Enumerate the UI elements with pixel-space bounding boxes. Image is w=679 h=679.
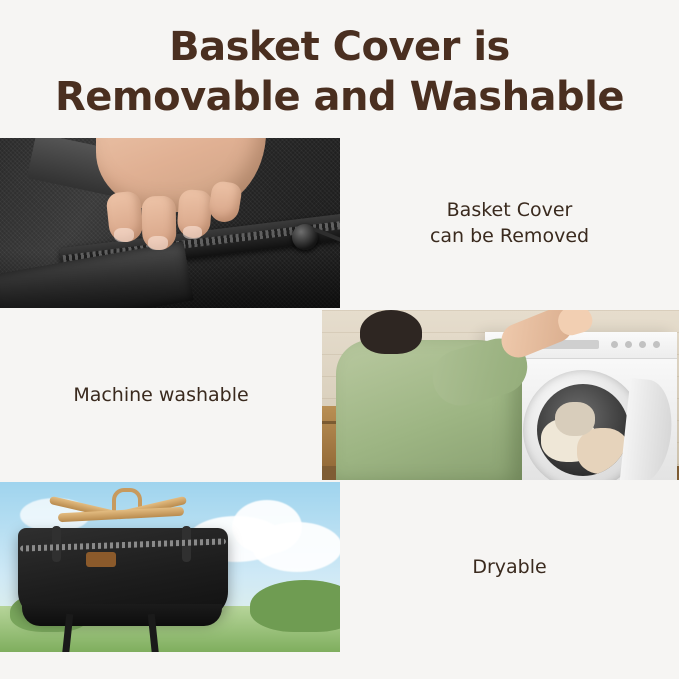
photo-basket-hanging-outdoors (0, 482, 340, 652)
caption-dryable: Dryable (340, 482, 679, 652)
feature-row-machine-washable: Machine washable (0, 310, 679, 480)
fabric-background (0, 138, 340, 308)
caption-line-1: Machine washable (73, 384, 248, 406)
brand-label (86, 552, 116, 567)
caption-machine-washable: Machine washable (0, 310, 322, 480)
washer-button-icon (625, 341, 632, 348)
caption-line-1: Dryable (472, 556, 546, 578)
sky-background (0, 482, 340, 652)
caption-line-2: can be Removed (430, 225, 589, 247)
fingernail (183, 226, 202, 239)
laundry-item (555, 402, 595, 436)
fingernail (148, 236, 168, 250)
washer-button-icon (653, 341, 660, 348)
photo-hand-pulling-basket-cover-zipper (0, 138, 340, 308)
headline-line-2: Removable and Washable (0, 72, 679, 122)
fingernail (114, 228, 134, 242)
washer-drum (537, 384, 629, 476)
bush (250, 580, 340, 632)
caption-basket-cover-removed: Basket Cover can be Removed (340, 138, 679, 308)
person-head (360, 310, 422, 354)
feature-row-dryable: Dryable (0, 482, 679, 652)
photo-person-loading-washing-machine (322, 310, 679, 480)
washer-door-flap (620, 378, 677, 480)
infographic-page: Basket Cover is Removable and Washable (0, 0, 679, 679)
page-title: Basket Cover is Removable and Washable (0, 22, 679, 122)
feature-row-removable: Basket Cover can be Removed (0, 138, 679, 308)
laundry-room-background (322, 310, 679, 480)
washer-button-icon (639, 341, 646, 348)
shadow-overlay (0, 252, 340, 308)
cloud (252, 522, 340, 572)
headline-line-1: Basket Cover is (169, 24, 510, 70)
basket-base (22, 604, 222, 626)
caption-line-1: Basket Cover (447, 199, 573, 221)
washer-button-icon (611, 341, 618, 348)
